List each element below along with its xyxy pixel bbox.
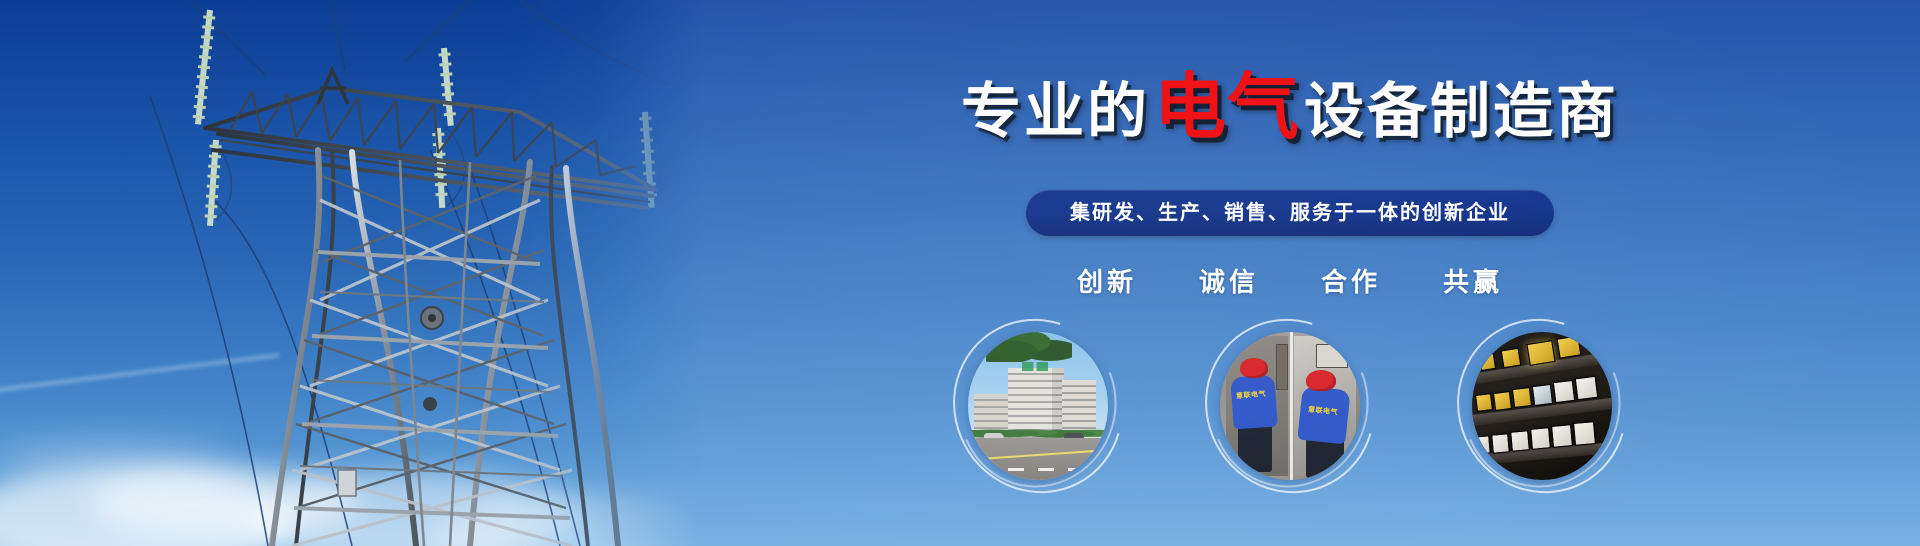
promo-banner: 专业的电气设备制造商 集研发、生产、销售、服务于一体的创新企业 创新 诚信 合作… bbox=[0, 0, 1920, 546]
workers-installation-photo: 意联电气 意联电气 bbox=[1220, 332, 1360, 480]
photo-circle-row: 意联电气 意联电气 bbox=[954, 318, 1626, 494]
keyword-cooperation: 合作 bbox=[1321, 262, 1381, 299]
keyword-innovation: 创新 bbox=[1077, 262, 1137, 299]
subtitle-pill: 集研发、生产、销售、服务于一体的创新企业 bbox=[1026, 190, 1554, 236]
keyword-winwin: 共赢 bbox=[1443, 262, 1503, 299]
keyword-integrity: 诚信 bbox=[1199, 262, 1259, 299]
circle-building[interactable] bbox=[954, 318, 1122, 494]
banner-content: 专业的电气设备制造商 集研发、生产、销售、服务于一体的创新企业 创新 诚信 合作… bbox=[660, 0, 1920, 546]
headline-part1: 专业的 bbox=[961, 78, 1150, 145]
certificates-wall-photo bbox=[1472, 332, 1612, 480]
circle-certificates[interactable] bbox=[1458, 318, 1626, 494]
transmission-tower-photo bbox=[0, 0, 700, 546]
company-building-photo bbox=[968, 332, 1108, 480]
headline-highlight: 电气 bbox=[1154, 68, 1300, 148]
page-title: 专业的电气设备制造商 bbox=[660, 72, 1920, 144]
circle-workers[interactable]: 意联电气 意联电气 bbox=[1206, 318, 1374, 494]
pylon-structure-icon bbox=[0, 0, 700, 546]
headline-part2: 设备制造商 bbox=[1304, 78, 1619, 145]
keyword-row: 创新 诚信 合作 共赢 bbox=[1077, 262, 1503, 299]
